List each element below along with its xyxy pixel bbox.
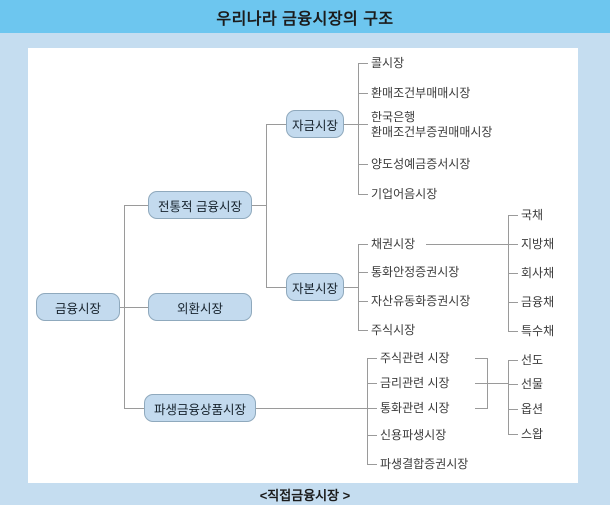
connector-bond-leaf-1 <box>508 215 518 216</box>
leaf-futures: 선물 <box>521 377 543 391</box>
connector-to-traditional <box>124 205 148 206</box>
node-label: 자금시장 <box>292 115 338 134</box>
connector-money-out <box>344 124 358 125</box>
connector-bond-leaf-4 <box>508 302 518 303</box>
node-label: 전통적 금융시장 <box>158 196 242 215</box>
leaf-stock-market: 주식시장 <box>371 323 415 337</box>
leaf-bok-repo-market: 한국은행 환매조건부증권매매시장 <box>371 110 492 140</box>
connector-bond-leaf-3 <box>508 273 518 274</box>
leaf-cp-market: 기업어음시장 <box>371 187 437 201</box>
connector-derivatives-out <box>256 408 367 409</box>
connector-derivatives-spine <box>367 358 368 464</box>
leaf-currency-derivatives-market: 통화관련 시장 <box>380 401 450 415</box>
connector-to-capital-market <box>266 287 286 288</box>
connector-instrument-leaf-1 <box>508 360 518 361</box>
diagram-canvas: 금융시장 전통적 금융시장 외환시장 파생금융상품시장 자금시장 자본시장 콜시… <box>28 48 578 483</box>
node-capital-market[interactable]: 자본시장 <box>286 273 344 301</box>
leaf-government-bond: 국채 <box>521 208 543 222</box>
leaf-special-bond: 특수채 <box>521 324 554 338</box>
brace-arm-mid <box>475 383 487 384</box>
connector-capital-spine <box>358 244 359 330</box>
connector-level2-spine <box>266 124 267 287</box>
connector-instrument-spine <box>508 360 509 434</box>
leaf-corporate-bond: 회사채 <box>521 266 554 280</box>
connector-derivative-leaf-1 <box>367 358 377 359</box>
leaf-interest-rate-derivatives-market: 금리관련 시장 <box>380 376 450 390</box>
leaf-msb-market: 통화안정증권시장 <box>371 265 459 279</box>
node-label: 파생금융상품시장 <box>154 399 246 418</box>
leaf-repo-market: 환매조건부매매시장 <box>371 86 470 100</box>
leaf-option: 옵션 <box>521 402 543 416</box>
connector-money-leaf-1 <box>358 63 368 64</box>
leaf-financial-bond: 금융채 <box>521 295 554 309</box>
brace-arm-top <box>475 358 487 359</box>
connector-money-leaf-2 <box>358 93 368 94</box>
leaf-structured-securities-market: 파생결합증권시장 <box>380 457 468 471</box>
leaf-abs-market: 자산유동화증권시장 <box>371 294 470 308</box>
connector-instrument-leaf-4 <box>508 434 518 435</box>
page-title: 우리나라 금융시장의 구조 <box>216 5 393 29</box>
leaf-cd-market: 양도성예금증서시장 <box>371 157 470 171</box>
connector-money-leaf-4 <box>358 164 368 165</box>
connector-capital-leaf-1 <box>358 244 368 245</box>
connector-capital-leaf-3 <box>358 301 368 302</box>
leaf-swap: 스왑 <box>521 427 543 441</box>
connector-capital-leaf-4 <box>358 330 368 331</box>
connector-instrument-leaf-3 <box>508 409 518 410</box>
connector-derivative-leaf-5 <box>367 464 377 465</box>
leaf-credit-derivatives-market: 신용파생시장 <box>380 428 446 442</box>
connector-money-leaf-3 <box>358 124 368 125</box>
connector-derivative-leaf-2 <box>367 383 377 384</box>
connector-bond-link <box>426 244 508 245</box>
connector-money-spine <box>358 63 359 194</box>
leaf-equity-derivatives-market: 주식관련 시장 <box>380 351 450 365</box>
connector-instrument-leaf-2 <box>508 384 518 385</box>
connector-bond-leaf-2 <box>508 244 518 245</box>
node-derivatives-market[interactable]: 파생금융상품시장 <box>144 394 256 422</box>
connector-bond-leaf-5 <box>508 331 518 332</box>
connector-traditional-out <box>252 205 266 206</box>
node-financial-market-root[interactable]: 금융시장 <box>36 293 120 321</box>
node-label: 자본시장 <box>292 278 338 297</box>
connector-capital-out <box>344 287 358 288</box>
leaf-call-market: 콜시장 <box>371 56 404 70</box>
title-bar: 우리나라 금융시장의 구조 <box>0 0 610 33</box>
node-traditional-financial-market[interactable]: 전통적 금융시장 <box>148 191 252 219</box>
connector-derivative-leaf-4 <box>367 435 377 436</box>
node-foreign-exchange-market[interactable]: 외환시장 <box>148 293 252 321</box>
diagram-page: { "title": "우리나라 금융시장의 구조", "caption": "… <box>0 0 610 505</box>
connector-money-leaf-5 <box>358 194 368 195</box>
node-label: 금융시장 <box>55 298 101 317</box>
caption-bar: <직접금융시장 > <box>0 483 610 505</box>
node-label: 외환시장 <box>177 298 223 317</box>
brace-arm-bottom <box>475 408 487 409</box>
connector-derivative-leaf-3 <box>367 408 377 409</box>
connector-to-fx <box>124 307 148 308</box>
caption-label: <직접금융시장 > <box>260 485 351 504</box>
brace-link <box>487 383 508 384</box>
node-money-market[interactable]: 자금시장 <box>286 110 344 138</box>
leaf-forward: 선도 <box>521 353 543 367</box>
leaf-municipal-bond: 지방채 <box>521 237 554 251</box>
leaf-bond-market: 채권시장 <box>371 237 415 251</box>
connector-capital-leaf-2 <box>358 272 368 273</box>
connector-to-money-market <box>266 124 286 125</box>
